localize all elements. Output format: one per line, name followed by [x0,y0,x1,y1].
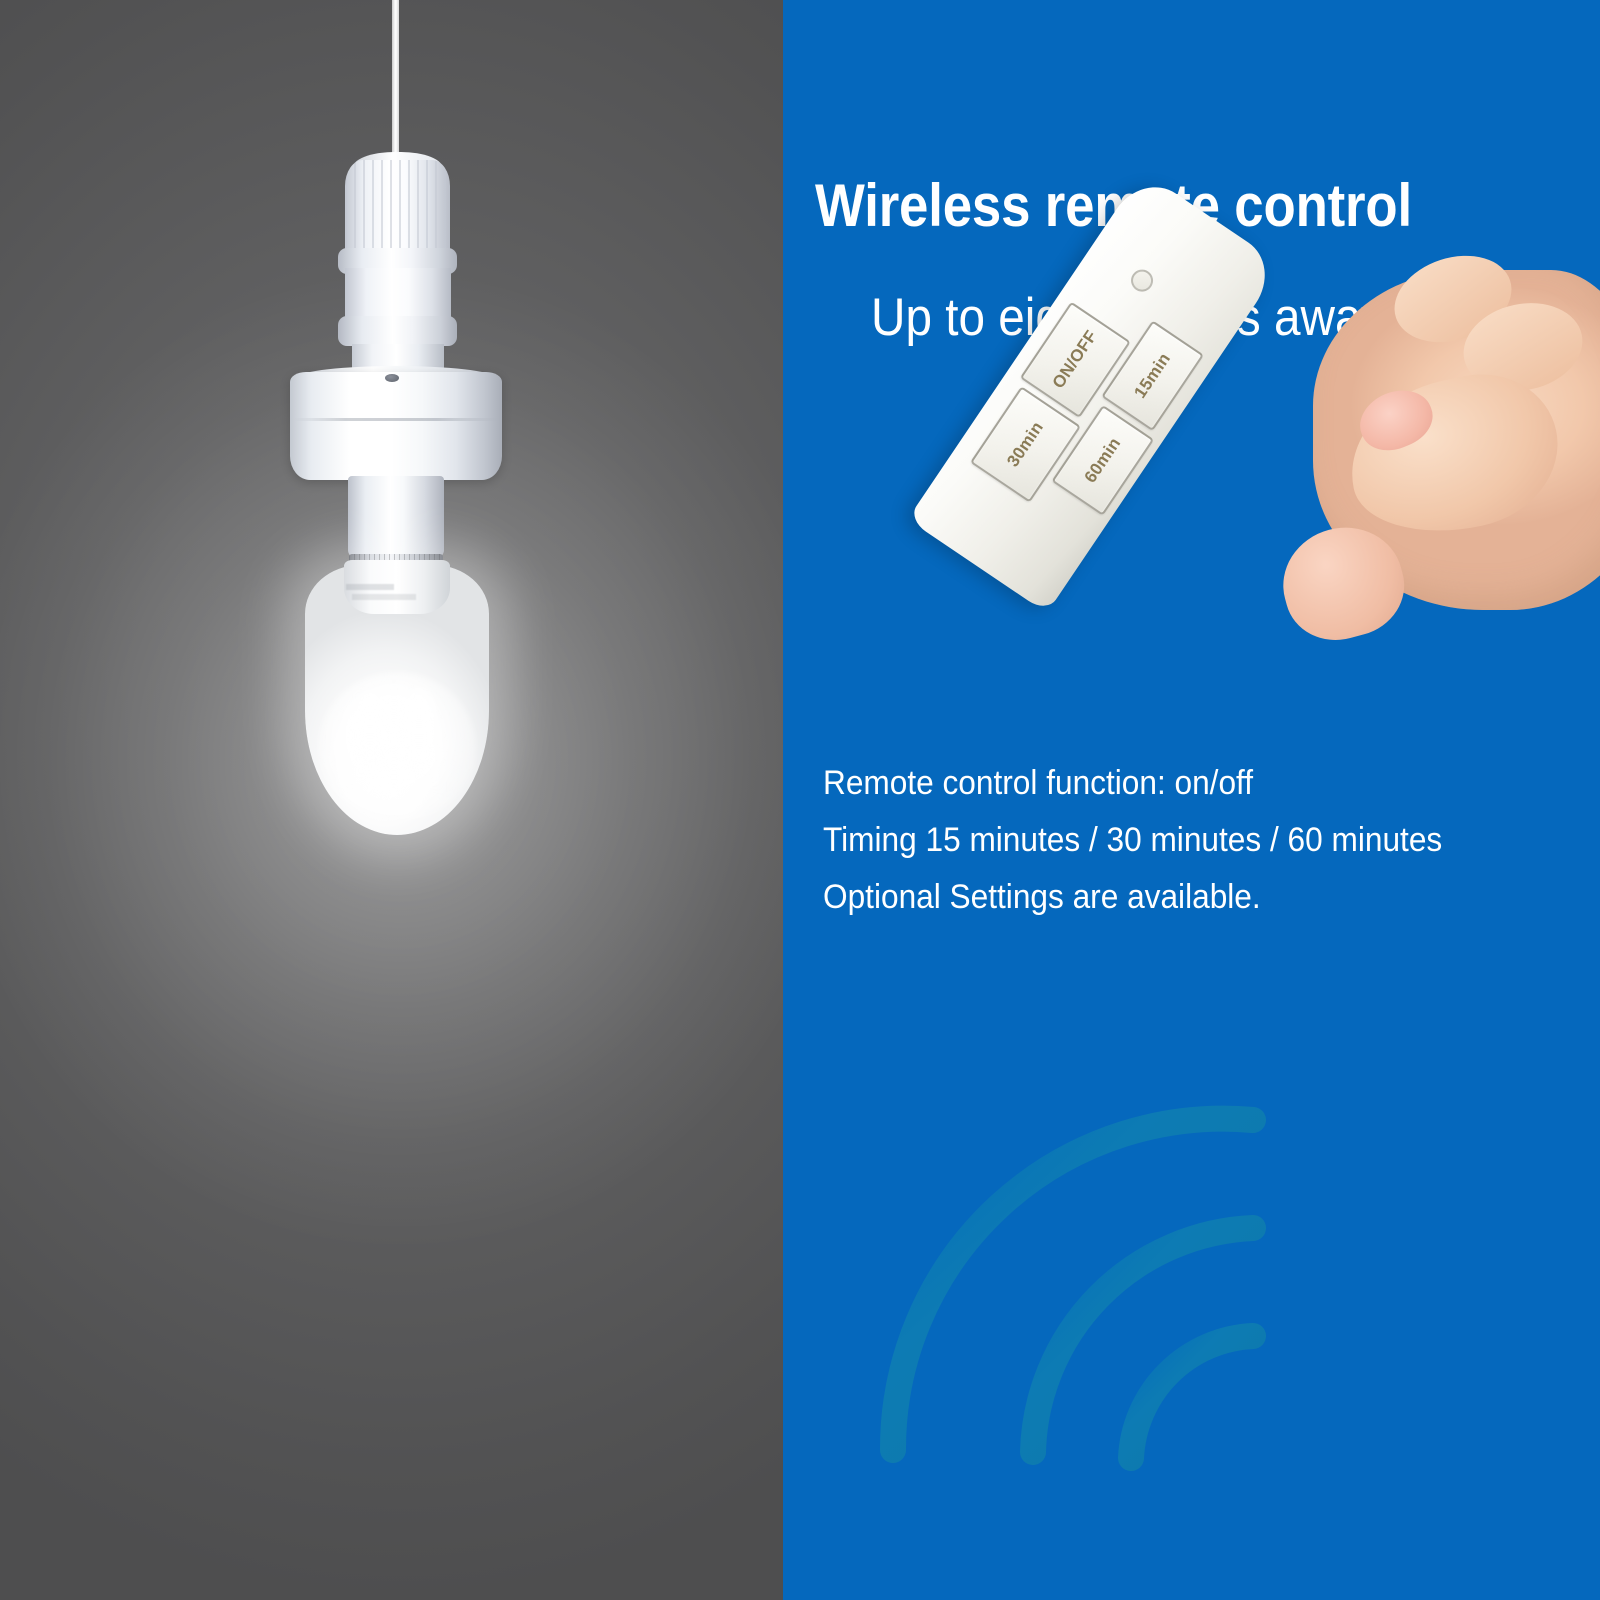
product-photo-panel [0,0,783,1600]
led-bulb-print [346,582,450,604]
smart-socket-sensor-hole [385,374,399,382]
feature-list: Remote control function: on/off Timing 1… [823,756,1539,927]
led-bulb-highlight-left [352,690,388,776]
marketing-copy-panel: Wireless remote control Up to eight metr… [783,0,1600,1600]
feature-line-timing: Timing 15 minutes / 30 minutes / 60 minu… [823,813,1539,868]
led-bulb-highlight-right [400,688,438,780]
socket-collar-lower [338,316,457,346]
smart-socket-disc [290,372,502,480]
remote-button-onoff-label: ON/OFF [1049,327,1102,392]
ir-emitter-icon [1127,265,1158,296]
remote-button-60min-label: 60min [1080,434,1125,487]
remote-button-15min-label: 15min [1130,349,1175,402]
smart-socket-disc-seam [294,418,498,421]
ribbed-cap [345,160,450,255]
feature-line-function: Remote control function: on/off [823,756,1539,811]
socket-lower-neck [348,476,444,558]
hanging-cord [392,0,399,168]
feature-line-optional: Optional Settings are available. [823,870,1539,925]
remote-button-30min-label: 30min [1003,418,1048,471]
product-banner: Wireless remote control Up to eight metr… [0,0,1600,1600]
remote-in-hand: ON/OFF 15min 30min 60min [1163,230,1600,650]
led-bulb-glow [318,672,476,822]
